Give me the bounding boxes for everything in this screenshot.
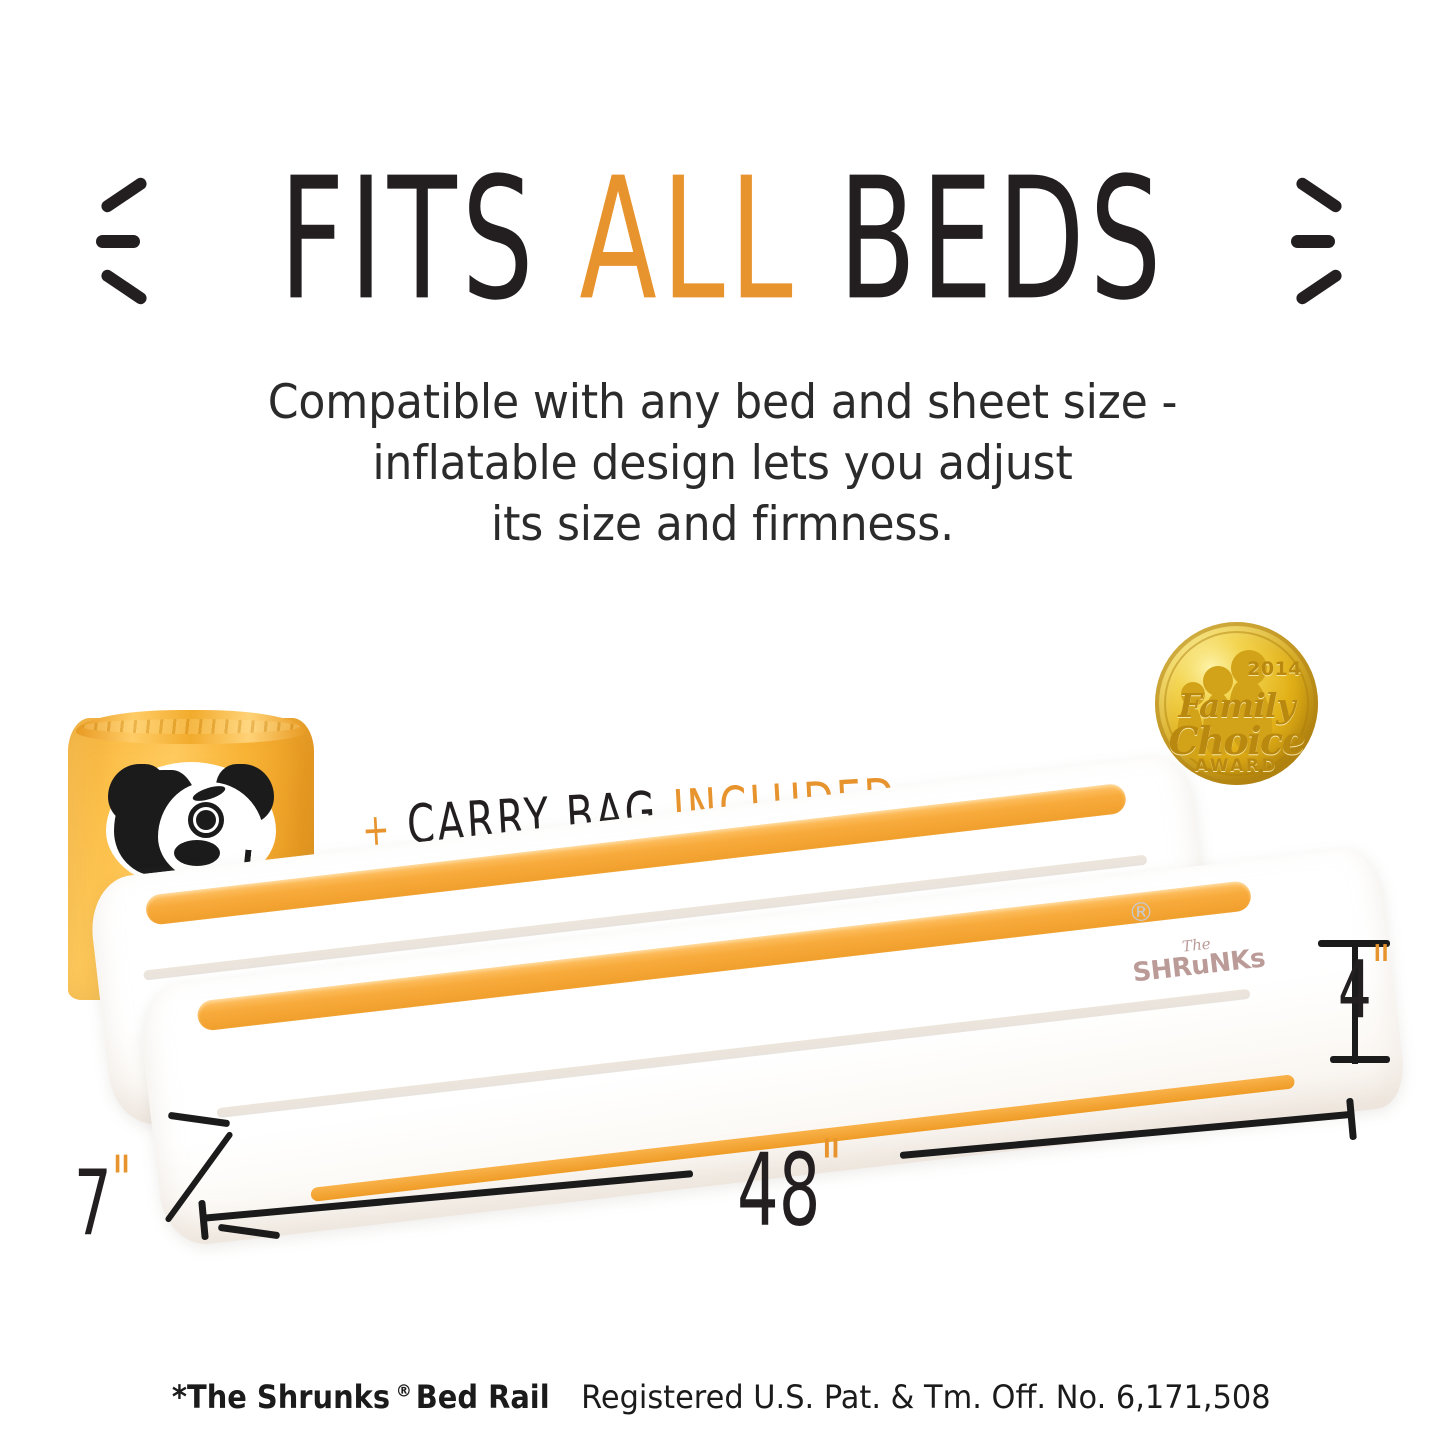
footer-legal-text: Registered U.S. Pat. & Tm. Off. No. 6,17… bbox=[581, 1378, 1270, 1416]
carry-bag-drawstring bbox=[76, 710, 306, 744]
product-feature-graphic: FITS ALL BEDS Compatible with any bed an… bbox=[0, 0, 1445, 1445]
page-title: FITS ALL BEDS bbox=[279, 155, 1166, 323]
dim-height-unit: " bbox=[1372, 933, 1393, 1005]
dim-height-value: 4 bbox=[1338, 944, 1372, 1036]
sunburst-left-icon bbox=[94, 165, 156, 315]
dim-depth-label: 7" bbox=[74, 1148, 133, 1249]
sunburst-right-icon bbox=[1289, 165, 1351, 315]
bed-rail-product-group bbox=[85, 812, 1375, 1212]
headline-highlight: ALL bbox=[579, 141, 797, 337]
product-registered-mark: ® bbox=[1128, 898, 1154, 928]
footer-brand-product: Bed Rail bbox=[416, 1378, 550, 1416]
footer-brand-registered: ® bbox=[396, 1381, 412, 1401]
dim-length-unit: " bbox=[820, 1124, 843, 1207]
dim-length-label: 48" bbox=[737, 1130, 843, 1241]
headline-row: FITS ALL BEDS bbox=[0, 152, 1445, 327]
footer-brand: *The Shrunks® Bed Rail bbox=[166, 1378, 553, 1416]
footer-brand-text: *The Shrunks bbox=[172, 1378, 390, 1416]
dim-depth-unit: " bbox=[112, 1142, 133, 1219]
subtitle-block: Compatible with any bed and sheet size -… bbox=[0, 372, 1445, 555]
headline-part1: FITS bbox=[279, 141, 579, 337]
dim-depth-value: 7 bbox=[74, 1151, 112, 1256]
dim-height-cap-bottom bbox=[1330, 1056, 1390, 1063]
dim-length-value: 48 bbox=[737, 1133, 820, 1249]
headline-part2: BEDS bbox=[797, 141, 1166, 337]
subtitle-line-3: its size and firmness. bbox=[43, 494, 1401, 555]
footer-legal-line: *The Shrunks® Bed Rail Registered U.S. P… bbox=[0, 1378, 1445, 1416]
subtitle-line-2: inflatable design lets you adjust bbox=[43, 433, 1401, 494]
subtitle-line-1: Compatible with any bed and sheet size - bbox=[43, 372, 1401, 433]
dim-height-label: 4" bbox=[1338, 938, 1392, 1030]
award-year: 2014 bbox=[1247, 658, 1302, 680]
